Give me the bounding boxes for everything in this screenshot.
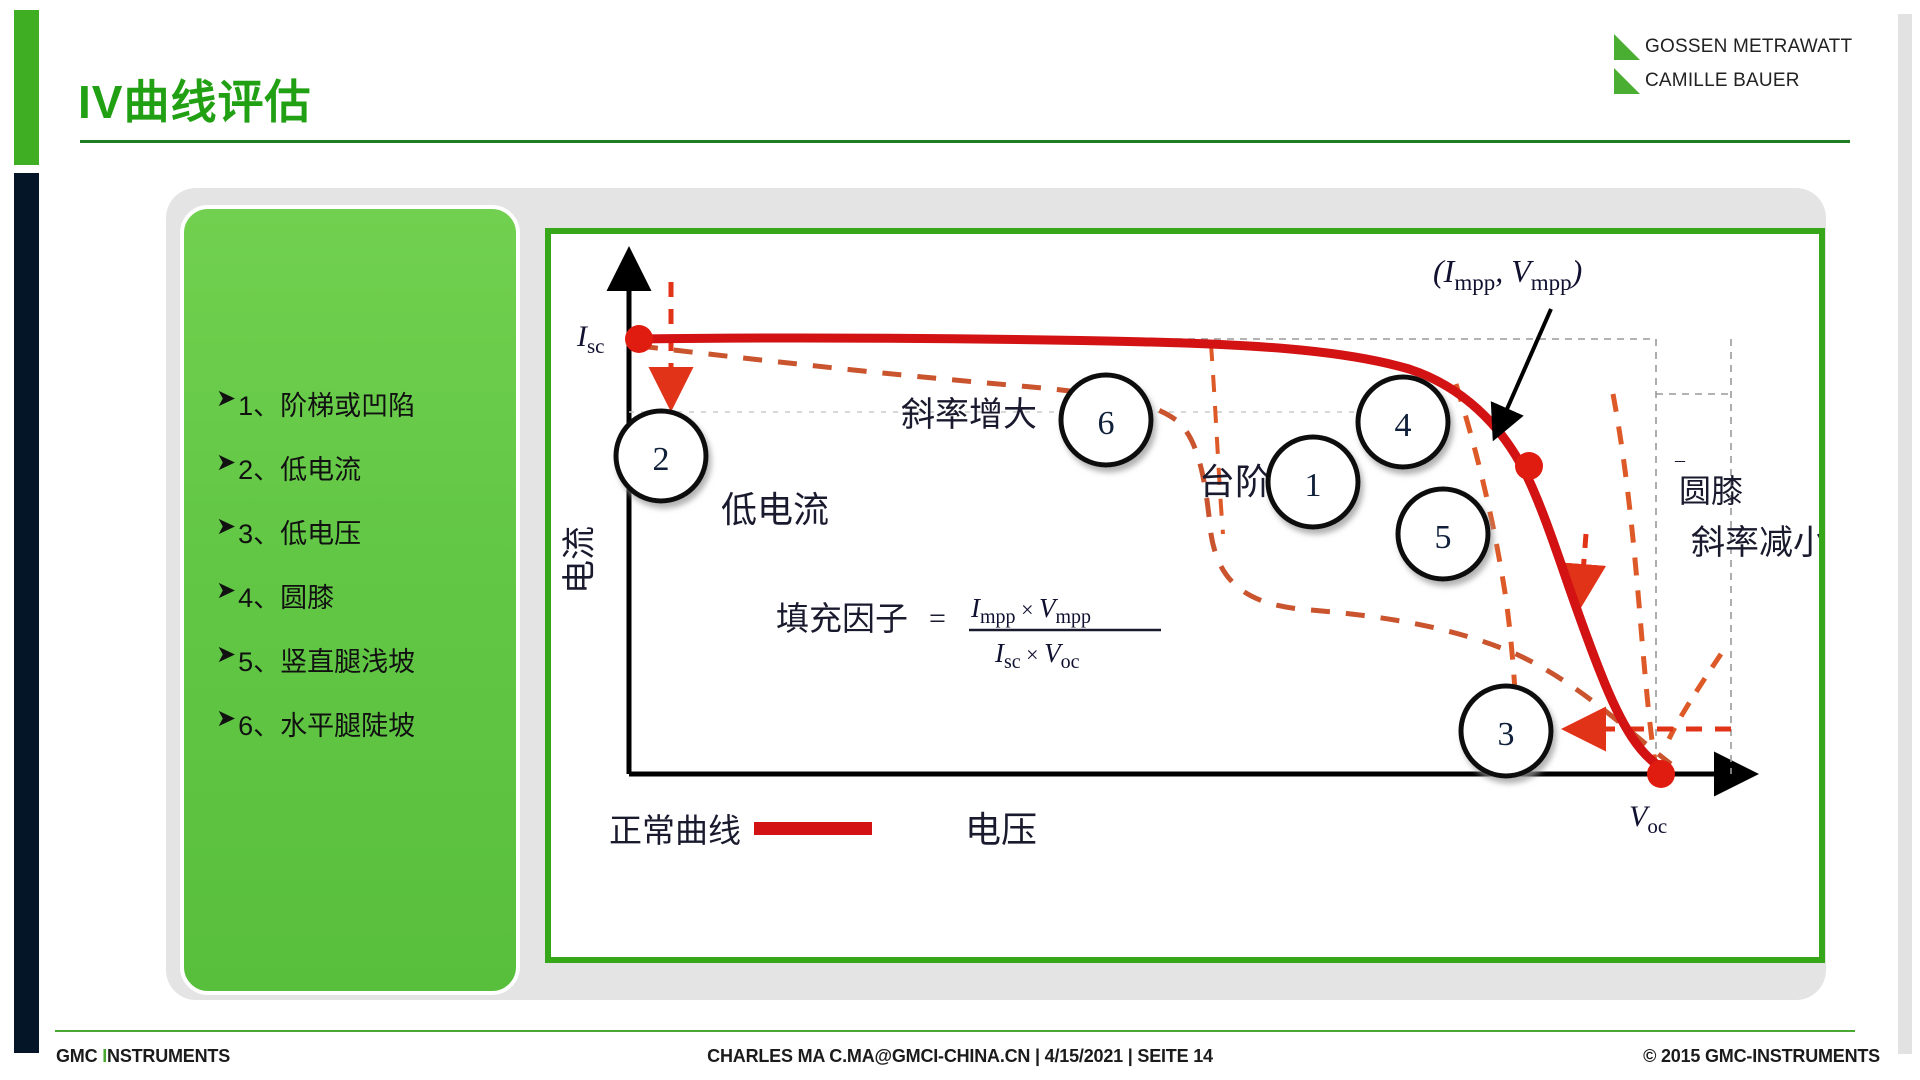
- right-accent-bar: [1898, 14, 1912, 1054]
- page-title: IV曲线评估: [78, 66, 311, 132]
- footer-divider: [55, 1030, 1855, 1032]
- bullet-arrow-icon: ➤: [216, 384, 236, 414]
- list-item[interactable]: ➤ 6、水平腿陡坡: [216, 704, 516, 743]
- iv-curve-chart: Isc Voc (Impp, Vmpp) – 圆膝 斜率增大 低电流 台阶 斜率…: [545, 228, 1825, 963]
- logo-row-camille: CAMILLE BAUER: [1614, 64, 1874, 98]
- low-current-label: 低电流: [721, 490, 829, 530]
- list-item-label: 3、低电压: [238, 512, 361, 551]
- triangle-icon: [1614, 68, 1640, 94]
- footer-copyright: © 2015 GMC-INSTRUMENTS: [1643, 1046, 1880, 1067]
- list-item[interactable]: ➤ 1、阶梯或凹陷: [216, 384, 516, 423]
- voc-label: Voc: [1629, 800, 1667, 838]
- voc-marker-dot: [1647, 760, 1675, 788]
- formula-equals: =: [929, 602, 946, 635]
- list-item-label: 2、低电流: [238, 448, 361, 487]
- callout-number: 2: [653, 441, 670, 478]
- chart-legend: 正常曲线: [609, 813, 872, 850]
- callout-circle-6[interactable]: 6: [1061, 375, 1151, 465]
- list-item[interactable]: ➤ 4、圆膝: [216, 576, 516, 615]
- mpp-point-label: (Impp, Vmpp): [1433, 253, 1582, 295]
- logo-text-camille: CAMILLE BAUER: [1645, 70, 1800, 92]
- brand-logo: GOSSEN METRAWATT CAMILLE BAUER: [1614, 30, 1874, 98]
- formula-lhs: 填充因子: [776, 601, 908, 638]
- bullet-list: ➤ 1、阶梯或凹陷 ➤ 2、低电流 ➤ 3、低电压 ➤ 4、圆膝 ➤ 5、竖直腿…: [184, 384, 516, 743]
- triangle-icon: [1614, 34, 1640, 60]
- isc-marker-dot: [625, 325, 653, 353]
- round-knee-label: 圆膝: [1679, 473, 1743, 509]
- slope-decrease-label: 斜率减小: [1691, 524, 1819, 562]
- callout-circle-1[interactable]: 1: [1268, 437, 1358, 527]
- isc-label: Isc: [576, 320, 605, 358]
- logo-row-gossen: GOSSEN METRAWATT: [1614, 30, 1874, 64]
- list-item-label: 6、水平腿陡坡: [238, 704, 415, 743]
- callout-circle-5[interactable]: 5: [1398, 489, 1488, 579]
- legend-label: 正常曲线: [609, 813, 741, 850]
- x-axis-title: 电压: [965, 810, 1037, 850]
- mpp-marker-dot: [1515, 452, 1543, 480]
- bullet-arrow-icon: ➤: [216, 512, 236, 542]
- list-item[interactable]: ➤ 5、竖直腿浅坡: [216, 640, 516, 679]
- logo-text-gossen: GOSSEN METRAWATT: [1645, 36, 1852, 58]
- minus-sign: –: [1674, 449, 1686, 471]
- slope-decrease-arrow: [1581, 534, 1586, 599]
- iv-curve-svg: Isc Voc (Impp, Vmpp) – 圆膝 斜率增大 低电流 台阶 斜率…: [551, 234, 1819, 957]
- step-label: 台阶: [1199, 462, 1271, 502]
- list-item-label: 4、圆膝: [238, 576, 334, 615]
- slope-increase-label: 斜率增大: [901, 396, 1037, 434]
- bullet-arrow-icon: ➤: [216, 576, 236, 606]
- callout-circle-4[interactable]: 4: [1358, 377, 1448, 467]
- bullet-panel: ➤ 1、阶梯或凹陷 ➤ 2、低电流 ➤ 3、低电压 ➤ 4、圆膝 ➤ 5、竖直腿…: [180, 205, 520, 995]
- footer-meta: CHARLES MA C.MA@GMCI-CHINA.CN | 4/15/202…: [0, 1046, 1920, 1067]
- legend-swatch: [754, 822, 872, 835]
- bullet-arrow-icon: ➤: [216, 640, 236, 670]
- formula-numerator: Impp × Vmpp: [970, 593, 1091, 628]
- mpp-pointer-arrow: [1496, 309, 1551, 434]
- bullet-arrow-icon: ➤: [216, 448, 236, 478]
- dashed-vertical-branch: [1211, 344, 1223, 534]
- list-item[interactable]: ➤ 2、低电流: [216, 448, 516, 487]
- y-axis-title: 电流: [561, 526, 599, 594]
- formula-denominator: Isc × Voc: [994, 638, 1080, 673]
- list-item[interactable]: ➤ 3、低电压: [216, 512, 516, 551]
- callout-number: 4: [1395, 407, 1412, 444]
- list-item-label: 1、阶梯或凹陷: [238, 384, 415, 423]
- dashed-fault-curve-d: [1669, 654, 1721, 739]
- fill-factor-formula: 填充因子 = Impp × Vmpp Isc × Voc: [776, 593, 1161, 673]
- callout-number: 3: [1498, 716, 1515, 753]
- title-divider: [80, 140, 1850, 143]
- bullet-arrow-icon: ➤: [216, 704, 236, 734]
- callout-circle-3[interactable]: 3: [1461, 686, 1551, 776]
- callout-number: 1: [1305, 467, 1322, 504]
- callout-number: 6: [1098, 405, 1115, 442]
- list-item-label: 5、竖直腿浅坡: [238, 640, 415, 679]
- callout-number: 5: [1435, 519, 1452, 556]
- callout-circle-2[interactable]: 2: [616, 411, 706, 501]
- left-accent-bar-green: [14, 10, 39, 165]
- left-accent-bar-navy: [14, 173, 39, 1053]
